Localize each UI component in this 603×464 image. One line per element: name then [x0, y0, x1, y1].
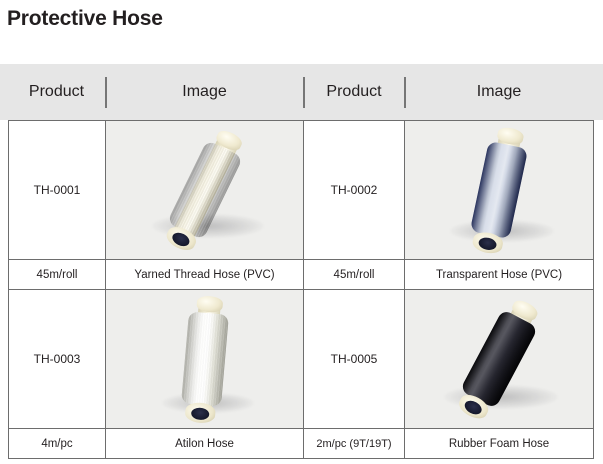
table-header-row: Product Image Product Image [0, 64, 603, 120]
product-name-cell: Atilon Hose [106, 429, 304, 458]
product-spec-cell: 45m/roll [304, 260, 405, 289]
table-row: TH-0003 [9, 290, 593, 429]
hose-roll-icon [106, 290, 303, 428]
column-header-product-1: Product [8, 64, 105, 120]
product-code-cell: TH-0003 [9, 290, 106, 428]
table-row: TH-0001 [9, 121, 593, 260]
product-spec-cell: 4m/pc [9, 429, 106, 458]
column-header-image-2: Image [405, 64, 593, 120]
product-image-cell [106, 290, 304, 428]
product-name-cell: Yarned Thread Hose (PVC) [106, 260, 304, 289]
product-spec-cell: 2m/pc (9T/19T) [304, 429, 405, 458]
hose-roll-icon [106, 121, 303, 259]
page-title: Protective Hose [7, 5, 163, 32]
column-header-product-2: Product [304, 64, 404, 120]
product-code-cell: TH-0002 [304, 121, 405, 259]
product-spec-cell: 45m/roll [9, 260, 106, 289]
product-image-cell [405, 290, 593, 428]
table-body: TH-0001 [8, 120, 594, 459]
product-catalog-page: Protective Hose Product Image Product Im… [0, 0, 603, 464]
product-image-cell [405, 121, 593, 259]
hose-roll-icon [405, 290, 593, 428]
table-row: 4m/pc Atilon Hose 2m/pc (9T/19T) Rubber … [9, 429, 593, 459]
product-code-cell: TH-0005 [304, 290, 405, 428]
product-code-cell: TH-0001 [9, 121, 106, 259]
product-table: Product Image Product Image TH-0001 [0, 64, 603, 120]
product-image-cell [106, 121, 304, 259]
column-header-image-1: Image [106, 64, 303, 120]
table-row: 45m/roll Yarned Thread Hose (PVC) 45m/ro… [9, 260, 593, 290]
product-name-cell: Rubber Foam Hose [405, 429, 593, 458]
product-name-cell: Transparent Hose (PVC) [405, 260, 593, 289]
hose-roll-icon [405, 121, 593, 259]
